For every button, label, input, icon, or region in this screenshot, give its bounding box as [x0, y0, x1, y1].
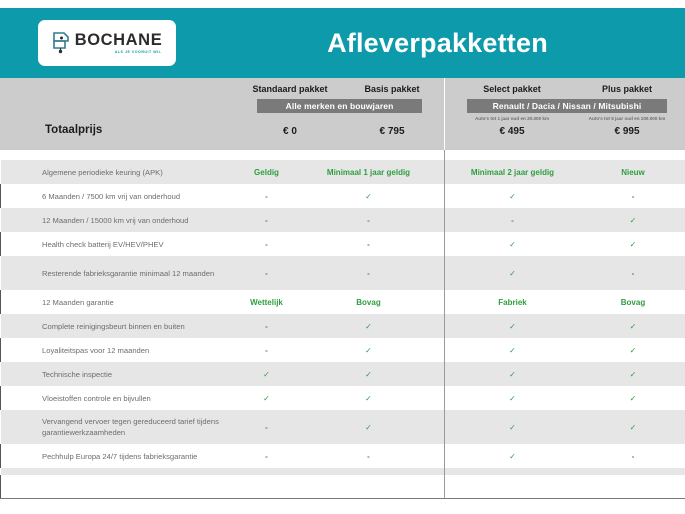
cell-plus: Bovag: [581, 290, 685, 314]
cell-plus: ✓: [581, 338, 685, 362]
table-row: Vervangend vervoer tegen gereduceerd tar…: [1, 410, 685, 444]
cell-plus: ✓: [581, 232, 685, 256]
cell-basis: ✓: [293, 410, 445, 444]
cell-plus: ✓: [581, 386, 685, 410]
table-group-divider: [444, 150, 445, 499]
cell-standaard: Wettelijk: [241, 290, 293, 314]
group-bar-alle-merken: Alle merken en bouwjaren: [257, 99, 422, 113]
afleverpakketten-page: BOCHANE ALS JE VOORUIT WIL Afleverpakket…: [0, 0, 685, 514]
cell-basis: ✓: [293, 338, 445, 362]
cell-basis: Minimaal 1 jaar geldig: [293, 160, 445, 184]
cell-standaard: -: [241, 410, 293, 444]
cell-select: ✓: [445, 338, 581, 362]
cell-select: ✓: [445, 232, 581, 256]
cell-basis: -: [293, 208, 445, 232]
cell-basis: ✓: [293, 314, 445, 338]
cell-basis: ✓: [293, 184, 445, 208]
comparison-table: Algemene periodieke keuring (APK)GeldigM…: [0, 150, 685, 492]
group-bar-renault-dacia-nissan-mitsubishi: Renault / Dacia / Nissan / Mitsubishi: [467, 99, 667, 113]
cell-select: Fabriek: [445, 290, 581, 314]
price-basis: € 795: [379, 126, 404, 137]
page-banner: BOCHANE ALS JE VOORUIT WIL Afleverpakket…: [0, 8, 685, 78]
row-label: Loyaliteitspas voor 12 maanden: [1, 338, 241, 362]
cell-standaard: -: [241, 338, 293, 362]
table-row: Resterende fabrieksgarantie minimaal 12 …: [1, 256, 685, 290]
column-note-select: Auto's tot 1 jaar oud en 20.000 km: [475, 116, 549, 121]
cell-basis: Bovag: [293, 290, 445, 314]
header-group-divider: [444, 78, 445, 150]
cell-select: -: [445, 208, 581, 232]
table-row: Vloeistoffen controle en bijvullen✓✓✓✓: [1, 386, 685, 410]
row-label: 6 Maanden / 7500 km vrij van onderhoud: [1, 184, 241, 208]
price-standaard: € 0: [283, 126, 297, 137]
cell-standaard: ✓: [241, 386, 293, 410]
table-row: Pechhulp Europa 24/7 tijdens fabrieksgar…: [1, 444, 685, 468]
page-title: Afleverpakketten: [190, 8, 685, 78]
cell-standaard: -: [241, 256, 293, 290]
row-label-heading: Totaalprijs: [45, 124, 102, 136]
column-title-select: Select pakket: [483, 84, 541, 94]
cell-standaard: ✓: [241, 362, 293, 386]
row-label: Vloeistoffen controle en bijvullen: [1, 386, 241, 410]
column-note-plus: Auto's tot 5 jaar oud en 100.000 km: [589, 116, 666, 121]
row-label: Technische inspectie: [1, 362, 241, 386]
cell-select: ✓: [445, 256, 581, 290]
row-label: 12 Maanden / 15000 km vrij van onderhoud: [1, 208, 241, 232]
row-label: Resterende fabrieksgarantie minimaal 12 …: [1, 256, 241, 290]
cell-plus: ✓: [581, 314, 685, 338]
table-row: Health check batterij EV/HEV/PHEV--✓✓: [1, 232, 685, 256]
cell-plus: ✓: [581, 362, 685, 386]
cell-standaard: -: [241, 232, 293, 256]
cell-select: Minimaal 2 jaar geldig: [445, 160, 581, 184]
bochane-b-mark-icon: [52, 30, 71, 56]
row-label: Vervangend vervoer tegen gereduceerd tar…: [1, 410, 241, 444]
cell-select: ✓: [445, 314, 581, 338]
price-plus: € 995: [614, 126, 639, 137]
price-select: € 495: [499, 126, 524, 137]
row-label: Algemene periodieke keuring (APK): [1, 160, 241, 184]
table-bottom-rule: [0, 498, 685, 499]
column-title-basis: Basis pakket: [364, 84, 419, 94]
brand-logo[interactable]: BOCHANE ALS JE VOORUIT WIL: [38, 20, 176, 66]
cell-basis: ✓: [293, 362, 445, 386]
cell-plus: ✓: [581, 410, 685, 444]
table-header-block: Totaalprijs Standaard pakket Basis pakke…: [0, 78, 685, 150]
table-body: Algemene periodieke keuring (APK)GeldigM…: [1, 150, 685, 492]
row-label: Complete reinigingsbeurt binnen en buite…: [1, 314, 241, 338]
brand-name: BOCHANE: [75, 32, 163, 49]
cell-basis: -: [293, 444, 445, 468]
cell-plus: -: [581, 444, 685, 468]
row-label: Pechhulp Europa 24/7 tijdens fabrieksgar…: [1, 444, 241, 468]
row-label: Health check batterij EV/HEV/PHEV: [1, 232, 241, 256]
table-left-rule: [0, 475, 1, 499]
table-row: 6 Maanden / 7500 km vrij van onderhoud-✓…: [1, 184, 685, 208]
cell-standaard: -: [241, 444, 293, 468]
cell-select: ✓: [445, 184, 581, 208]
cell-plus: -: [581, 184, 685, 208]
column-title-plus: Plus pakket: [602, 84, 652, 94]
brand-tagline: ALS JE VOORUIT WIL: [115, 51, 162, 55]
cell-basis: -: [293, 232, 445, 256]
cell-standaard: -: [241, 208, 293, 232]
cell-select: ✓: [445, 410, 581, 444]
cell-plus: Nieuw: [581, 160, 685, 184]
table-row: Complete reinigingsbeurt binnen en buite…: [1, 314, 685, 338]
cell-basis: -: [293, 256, 445, 290]
cell-plus: -: [581, 256, 685, 290]
table-row: Technische inspectie✓✓✓✓: [1, 362, 685, 386]
cell-select: ✓: [445, 362, 581, 386]
cell-standaard: Geldig: [241, 160, 293, 184]
column-title-standaard: Standaard pakket: [252, 84, 327, 94]
table-tail-row: [0, 475, 685, 498]
table-row: Algemene periodieke keuring (APK)GeldigM…: [1, 160, 685, 184]
cell-basis: ✓: [293, 386, 445, 410]
cell-standaard: -: [241, 314, 293, 338]
row-label: 12 Maanden garantie: [1, 290, 241, 314]
table-row: 12 Maanden garantieWettelijkBovagFabriek…: [1, 290, 685, 314]
cell-standaard: -: [241, 184, 293, 208]
cell-select: ✓: [445, 444, 581, 468]
table-top-spacer: [1, 150, 685, 160]
table-row: Loyaliteitspas voor 12 maanden-✓✓✓: [1, 338, 685, 362]
cell-plus: ✓: [581, 208, 685, 232]
table-row: 12 Maanden / 15000 km vrij van onderhoud…: [1, 208, 685, 232]
cell-select: ✓: [445, 386, 581, 410]
